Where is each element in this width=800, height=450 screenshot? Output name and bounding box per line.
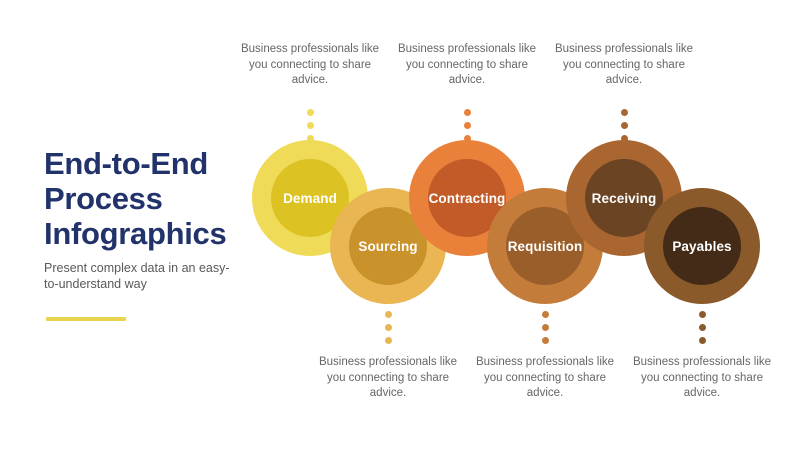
infographic-slide: End-to-End Process Infographics Present …	[0, 0, 800, 450]
connector-dot	[385, 337, 392, 344]
connector-dots-sourcing	[385, 311, 392, 344]
connector-dots-payables	[699, 311, 706, 344]
connector-dot	[464, 122, 471, 129]
caption-payables: Business professionals like you connecti…	[627, 355, 777, 402]
process-node-label-demand: Demand	[283, 191, 337, 206]
caption-demand: Business professionals like you connecti…	[235, 42, 385, 89]
connector-dot	[621, 109, 628, 116]
process-node-label-sourcing: Sourcing	[358, 239, 417, 254]
connector-dot	[542, 337, 549, 344]
caption-requisition: Business professionals like you connecti…	[470, 355, 620, 402]
connector-dot	[621, 122, 628, 129]
connector-dots-receiving	[621, 109, 628, 142]
process-node-label-contracting: Contracting	[429, 191, 506, 206]
connector-dot	[385, 311, 392, 318]
process-node-label-payables: Payables	[672, 239, 731, 254]
connector-dot	[699, 324, 706, 331]
connector-dot	[699, 337, 706, 344]
connector-dot	[542, 324, 549, 331]
connector-dots-demand	[307, 109, 314, 142]
connector-dot	[542, 311, 549, 318]
connector-dot	[699, 311, 706, 318]
process-node-core-payables[interactable]: Payables	[663, 207, 741, 285]
connector-dot	[307, 122, 314, 129]
process-diagram: Business professionals like you connecti…	[0, 0, 800, 450]
caption-receiving: Business professionals like you connecti…	[549, 42, 699, 89]
process-node-label-receiving: Receiving	[592, 191, 657, 206]
connector-dot	[307, 109, 314, 116]
caption-sourcing: Business professionals like you connecti…	[313, 355, 463, 402]
connector-dots-contracting	[464, 109, 471, 142]
caption-contracting: Business professionals like you connecti…	[392, 42, 542, 89]
connector-dot	[385, 324, 392, 331]
connector-dot	[464, 109, 471, 116]
process-node-label-requisition: Requisition	[508, 239, 583, 254]
connector-dots-requisition	[542, 311, 549, 344]
